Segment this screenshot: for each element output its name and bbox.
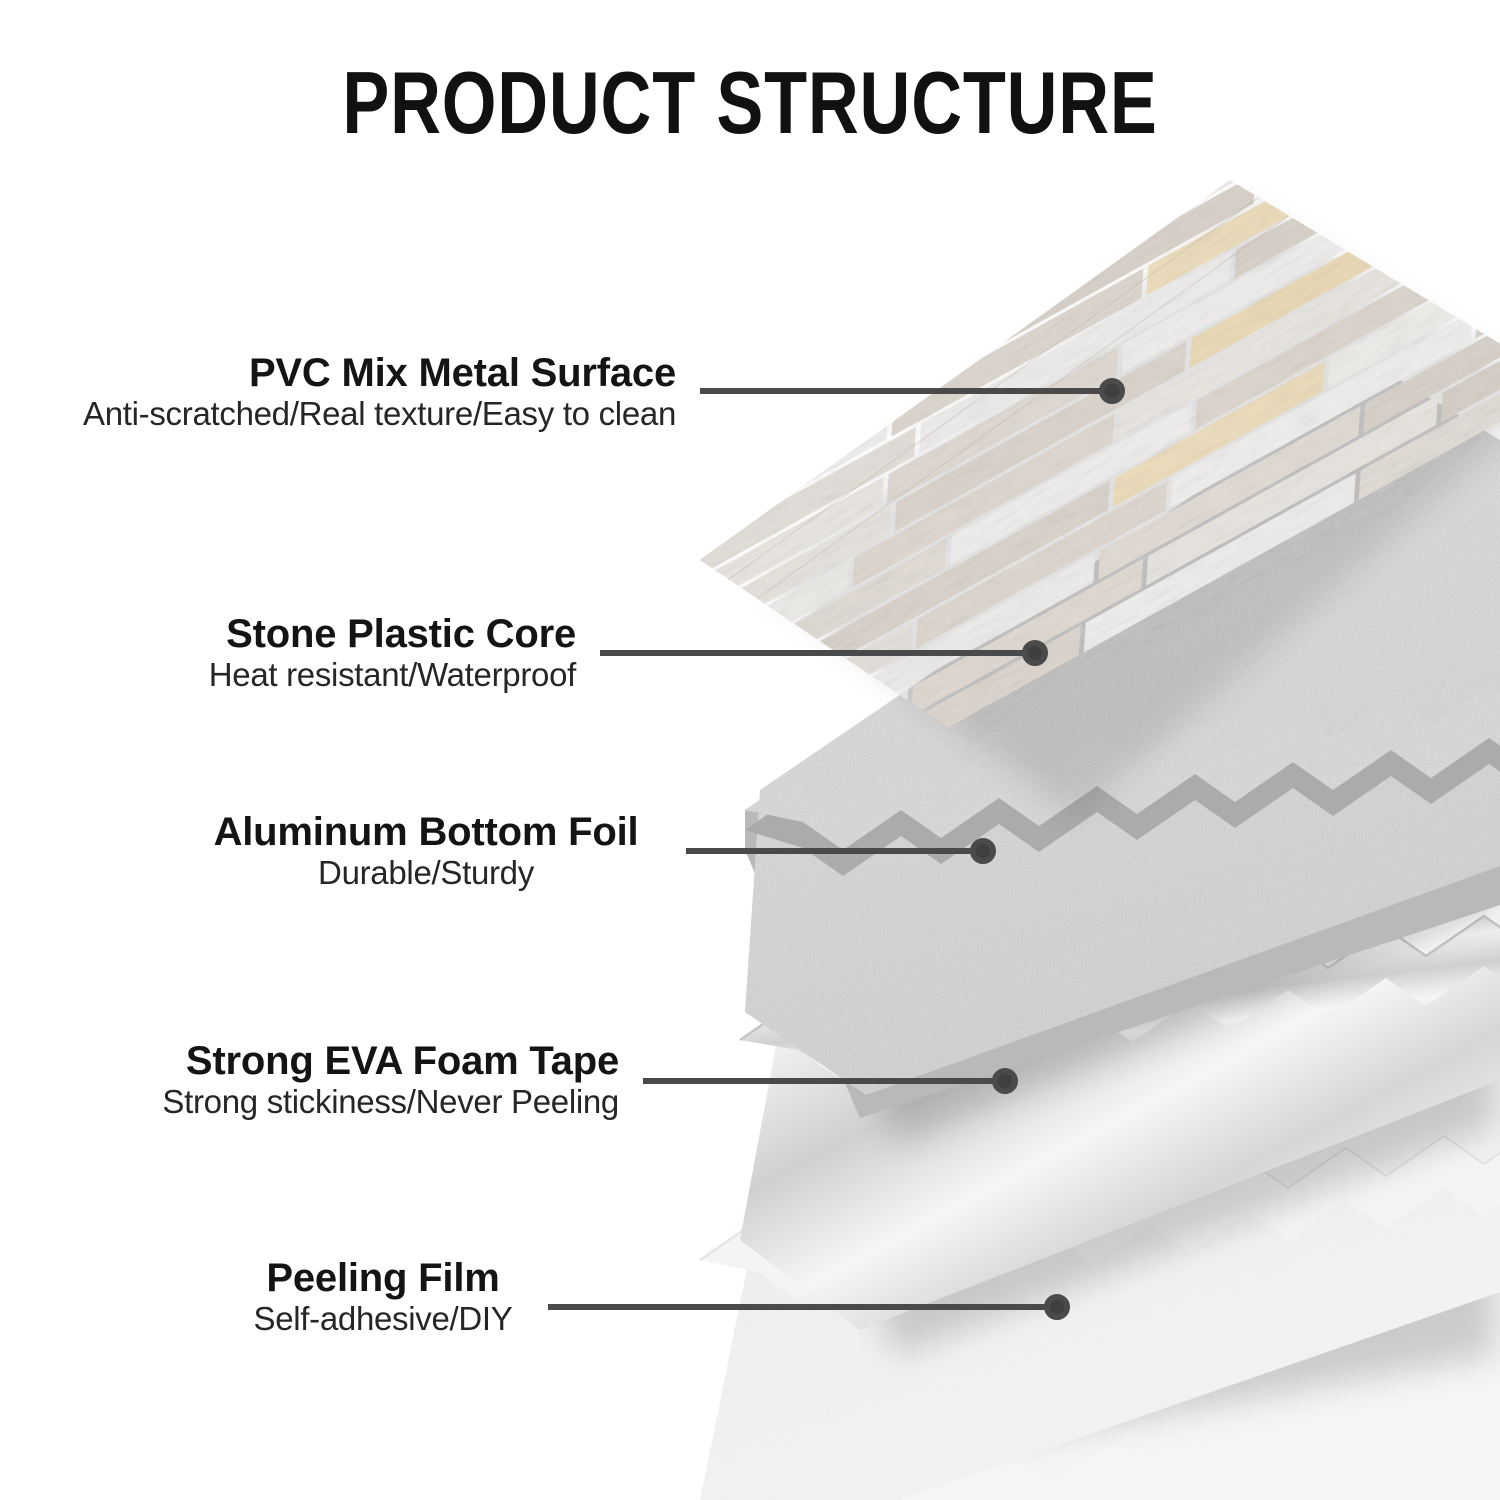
callout-title: Stone Plastic Core <box>0 613 576 655</box>
product-structure-infographic: PRODUCT STRUCTURE <box>0 0 1500 1500</box>
callout-stone-plastic-core: Stone Plastic Core Heat resistant/Waterp… <box>0 613 576 694</box>
callout-subtitle: Strong stickiness/Never Peeling <box>0 1084 619 1121</box>
callout-subtitle: Durable/Sturdy <box>146 855 706 892</box>
callout-pvc-mix-metal-surface: PVC Mix Metal Surface Anti-scratched/Rea… <box>0 352 676 433</box>
callout-title: Peeling Film <box>120 1257 646 1299</box>
callout-title: Strong EVA Foam Tape <box>0 1040 619 1082</box>
callout-subtitle: Anti-scratched/Real texture/Easy to clea… <box>0 396 676 433</box>
callout-title: Aluminum Bottom Foil <box>146 811 706 853</box>
callout-subtitle: Self-adhesive/DIY <box>120 1301 646 1338</box>
callout-aluminum-bottom-foil: Aluminum Bottom Foil Durable/Sturdy <box>146 811 706 892</box>
callout-subtitle: Heat resistant/Waterproof <box>0 657 576 694</box>
callout-peeling-film: Peeling Film Self-adhesive/DIY <box>120 1257 646 1338</box>
callout-strong-eva-foam-tape: Strong EVA Foam Tape Strong stickiness/N… <box>0 1040 619 1121</box>
callout-title: PVC Mix Metal Surface <box>0 352 676 394</box>
